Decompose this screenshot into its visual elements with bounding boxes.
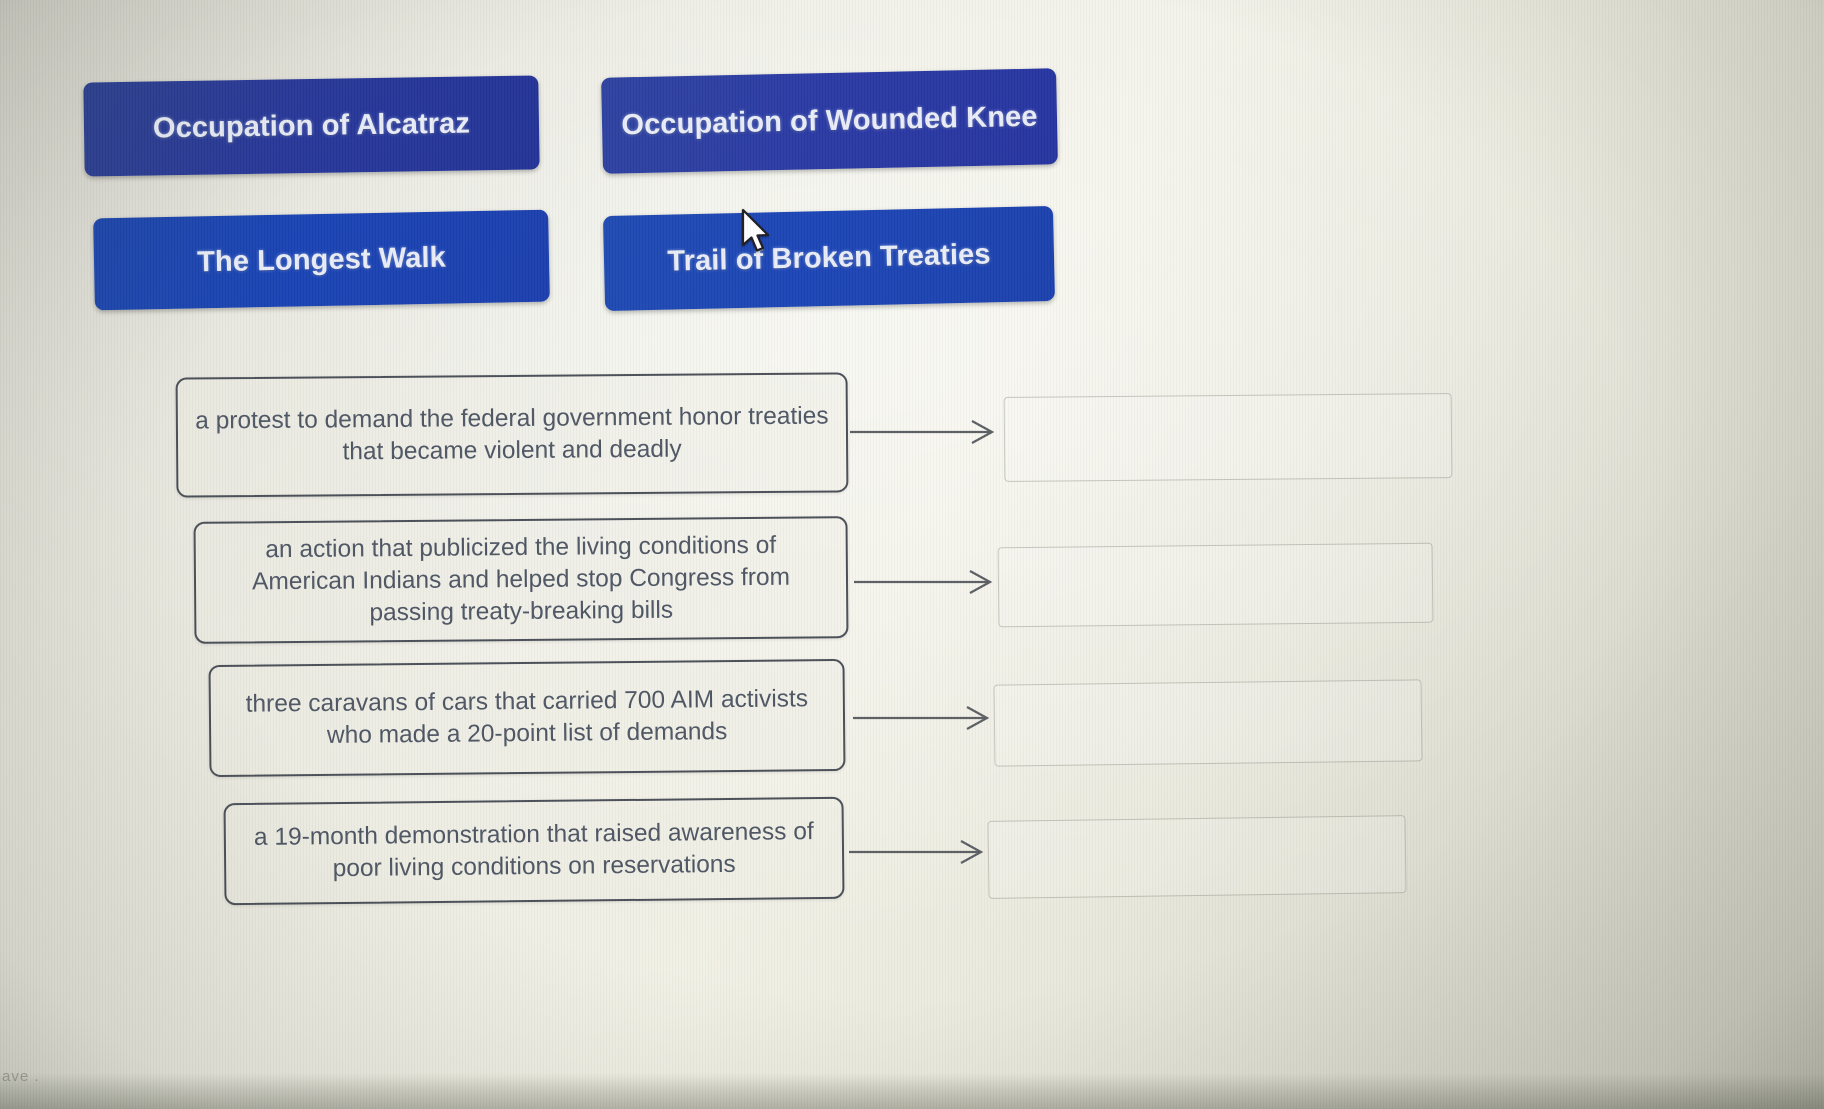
matching-rows: a protest to demand the federal governme… xyxy=(0,0,1824,1109)
answer-drop-zone[interactable] xyxy=(1004,393,1453,482)
description-box: a 19-month demonstration that raised awa… xyxy=(223,797,844,905)
description-box: an action that publicized the living con… xyxy=(193,516,848,644)
quiz-screen-photo: Occupation of Alcatraz Occupation of Wou… xyxy=(0,0,1824,1109)
answer-drop-zone[interactable] xyxy=(987,815,1406,899)
arrow-right-icon xyxy=(850,412,998,452)
description-text: three caravans of cars that carried 700 … xyxy=(227,683,828,753)
answer-drop-zone[interactable] xyxy=(998,543,1434,628)
arrow-right-icon xyxy=(849,832,987,872)
description-text: an action that publicized the living con… xyxy=(212,529,831,631)
answer-drop-zone[interactable] xyxy=(994,679,1423,766)
description-text: a 19-month demonstration that raised awa… xyxy=(242,816,827,886)
arrow-right-icon xyxy=(853,698,993,738)
description-text: a protest to demand the federal governme… xyxy=(194,400,830,469)
bottom-left-artifact-text: ave . xyxy=(2,1068,40,1085)
description-box: a protest to demand the federal governme… xyxy=(176,372,849,497)
arrow-right-icon xyxy=(854,562,996,602)
description-box: three caravans of cars that carried 700 … xyxy=(208,659,845,777)
